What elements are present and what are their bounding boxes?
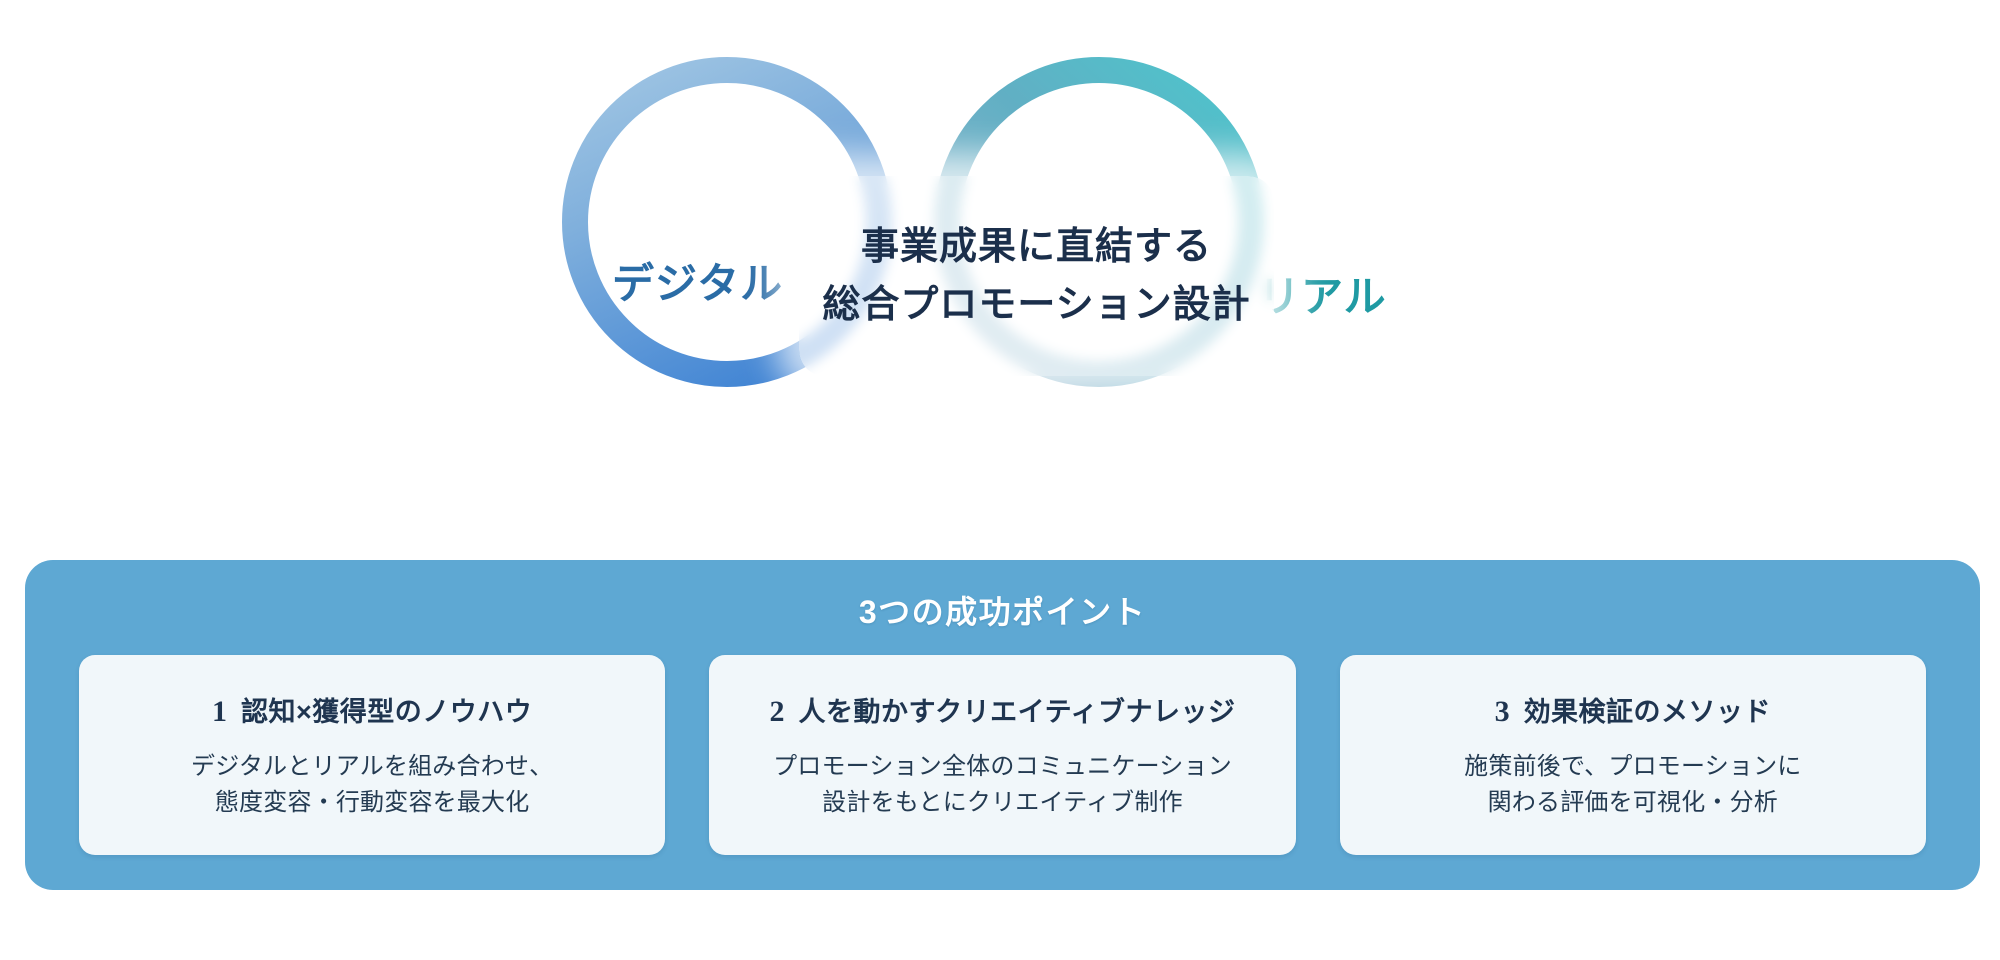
loop-label-real: リアル	[1258, 263, 1387, 324]
point-card-3-title: 効果検証のメソッド	[1524, 690, 1772, 729]
point-card-1-body: デジタルとリアルを組み合わせ、 態度変容・行動変容を最大化	[191, 749, 553, 820]
point-card-2-body-line-2: 設計をもとにクリエイティブ制作	[773, 785, 1232, 821]
point-card-2-heading: 2 人を動かすクリエイティブナレッジ	[769, 690, 1235, 729]
point-card-2-title: 人を動かすクリエイティブナレッジ	[798, 690, 1235, 729]
infinity-loop-diagram: デジタル リアル 事業成果に直結する 総合プロモーション設計	[0, 0, 2000, 500]
points-card-row: 1 認知×獲得型のノウハウ デジタルとリアルを組み合わせ、 態度変容・行動変容を…	[79, 655, 1926, 855]
point-card-2-body-line-1: プロモーション全体のコミュニケーション	[773, 749, 1232, 785]
center-message-line-2: 総合プロモーション設計	[822, 280, 1250, 330]
point-card-3[interactable]: 3 効果検証のメソッド 施策前後で、プロモーションに 関わる評価を可視化・分析	[1340, 655, 1926, 855]
center-message: 事業成果に直結する 総合プロモーション設計	[799, 176, 1274, 376]
point-card-3-body-line-2: 関わる評価を可視化・分析	[1464, 785, 1801, 821]
point-card-2-body: プロモーション全体のコミュニケーション 設計をもとにクリエイティブ制作	[773, 749, 1232, 820]
point-card-1-body-line-2: 態度変容・行動変容を最大化	[191, 785, 553, 821]
point-card-2[interactable]: 2 人を動かすクリエイティブナレッジ プロモーション全体のコミュニケーション 設…	[709, 655, 1295, 855]
loop-label-digital: デジタル	[612, 250, 783, 311]
point-card-1-body-line-1: デジタルとリアルを組み合わせ、	[191, 749, 553, 785]
point-card-1-title: 認知×獲得型のノウハウ	[241, 690, 532, 729]
point-card-2-number: 2	[769, 695, 784, 729]
point-card-1-number: 1	[212, 695, 227, 729]
success-points-panel: 3つの成功ポイント 1 認知×獲得型のノウハウ デジタルとリアルを組み合わせ、 …	[25, 560, 1980, 890]
panel-title: 3つの成功ポイント	[25, 587, 1980, 633]
point-card-1[interactable]: 1 認知×獲得型のノウハウ デジタルとリアルを組み合わせ、 態度変容・行動変容を…	[79, 655, 665, 855]
point-card-3-number: 3	[1495, 695, 1510, 729]
point-card-1-heading: 1 認知×獲得型のノウハウ	[212, 690, 532, 729]
point-card-3-body: 施策前後で、プロモーションに 関わる評価を可視化・分析	[1464, 749, 1801, 820]
point-card-3-heading: 3 効果検証のメソッド	[1495, 690, 1772, 729]
center-message-line-1: 事業成果に直結する	[861, 222, 1212, 272]
point-card-3-body-line-1: 施策前後で、プロモーションに	[1464, 749, 1801, 785]
